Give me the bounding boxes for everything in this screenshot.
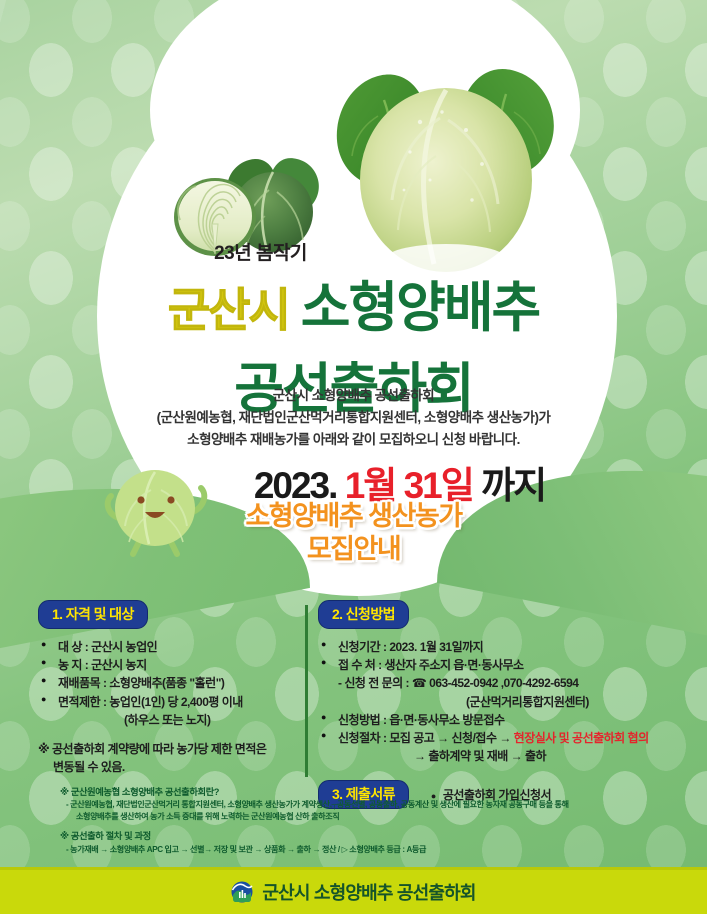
application-phone-line: - 신청 전 문의 : ☎ 063-452-0942 ,070-4292-659… xyxy=(318,674,698,692)
description-line-2: (군산원예농협, 재단법인군산먹거리통합지원센터, 소형양배추 생산농가)가 xyxy=(0,407,707,429)
procedure-text-highlight: 현장실사 및 공선출하회 협의 xyxy=(514,731,649,745)
list-item: 신청절차 : 모집 공고 → 신청/접수 → 현장실사 및 공선출하회 협의 xyxy=(318,729,698,747)
list-item: 재배품목 : 소형양배추(품종 "홀런") xyxy=(38,674,300,692)
fineprint-line-1b: 소형양배추를 생산하여 농가 소득 증대를 위해 노력하는 군산원예농협 산하 … xyxy=(76,811,700,823)
fineprint-spacer xyxy=(60,823,700,830)
fineprint-heading-2: ※ 공선출하 절차 및 과정 xyxy=(60,830,700,843)
title-year-label: 23년 봄작기 xyxy=(0,238,707,265)
section-1-subnote: (하우스 또는 노지) xyxy=(124,711,300,729)
section-1-note: ※ 공선출하회 계약량에 따라 농가당 제한 면적은 변동될 수 있음. xyxy=(38,740,300,776)
section-2-badge: 2. 신청방법 xyxy=(318,600,409,629)
column-divider xyxy=(305,605,308,777)
title-product: 소형양배추 xyxy=(301,263,539,342)
description-block: 군산시 소형양배추 공선출하회 (군산원예농협, 재단법인군산먹거리통합지원센터… xyxy=(0,385,707,451)
list-item: 신청기간 : 2023. 1월 31일까지 xyxy=(318,638,698,656)
description-line-1: 군산시 소형양배추 공선출하회 xyxy=(0,385,707,407)
section-1-badge: 1. 자격 및 대상 xyxy=(38,600,148,629)
procedure-text-part1: 신청절차 : 모집 공고 → 신청/접수 → xyxy=(338,731,514,745)
info-section: 1. 자격 및 대상 대 상 : 군산시 농업인 농 지 : 군산시 농지 재배… xyxy=(0,600,707,780)
footer-title: 군산시 소형양배추 공선출하회 xyxy=(262,879,475,905)
fineprint-line-1a: - 군산원예농협, 재단법인군산먹거리 통합지원센터, 소형양배추 생산농가가 … xyxy=(66,799,700,811)
section-1-qualification: 1. 자격 및 대상 대 상 : 군산시 농업인 농 지 : 군산시 농지 재배… xyxy=(38,600,300,776)
fineprint-line-2a: - 농가재배 → 소형양배추 APC 입고 → 선별→ 저장 및 보관 → 상품… xyxy=(66,844,700,856)
title-city-name: 군산시 xyxy=(168,274,289,340)
gunsan-city-emblem-icon xyxy=(231,881,253,903)
list-item: 접 수 처 : 생산자 주소지 읍·면·동사무소 xyxy=(318,656,698,674)
section-1-note-line-2: 변동될 수 있음. xyxy=(53,758,300,776)
footer-bar: 군산시 소형양배추 공선출하회 xyxy=(0,870,707,914)
fineprint-heading-1: ※ 군산원예농협 소형양배추 공선출하회란? xyxy=(60,786,700,799)
list-item: 농 지 : 군산시 농지 xyxy=(38,656,300,674)
title-main-row: 군산시 소형양배추 xyxy=(0,263,707,342)
cabbage-mascot-icon xyxy=(103,456,209,564)
description-line-3: 소형양배추 재배농가를 아래와 같이 모집하오니 신청 바랍니다. xyxy=(0,429,707,451)
section-1-note-line-1: ※ 공선출하회 계약량에 따라 농가당 제한 면적은 xyxy=(38,740,300,758)
application-center-name: (군산먹거리통합지원센터) xyxy=(318,693,698,711)
fineprint-block: ※ 군산원예농협 소형양배추 공선출하회란? - 군산원예농협, 재단법인군산먹… xyxy=(60,786,700,856)
list-item: 면적제한 : 농업인(1인) 당 2,400평 이내 xyxy=(38,693,300,711)
list-item: 신청방법 : 읍·면·동사무소 방문접수 xyxy=(318,711,698,729)
section-2-application: 2. 신청방법 신청기간 : 2023. 1월 31일까지 접 수 처 : 생산… xyxy=(318,600,698,809)
section-2-list: 신청기간 : 2023. 1월 31일까지 접 수 처 : 생산자 주소지 읍·… xyxy=(318,638,698,766)
procedure-text-line2: → 출하계약 및 재배 → 출하 xyxy=(318,747,698,765)
list-item: 대 상 : 군산시 농업인 xyxy=(38,638,300,656)
poster-root: 23년 봄작기 군산시 소형양배추 공선출하회 군산시 소형양배추 공선출하회 … xyxy=(0,0,707,914)
section-1-list: 대 상 : 군산시 농업인 농 지 : 군산시 농지 재배품목 : 소형양배추(… xyxy=(38,638,300,711)
